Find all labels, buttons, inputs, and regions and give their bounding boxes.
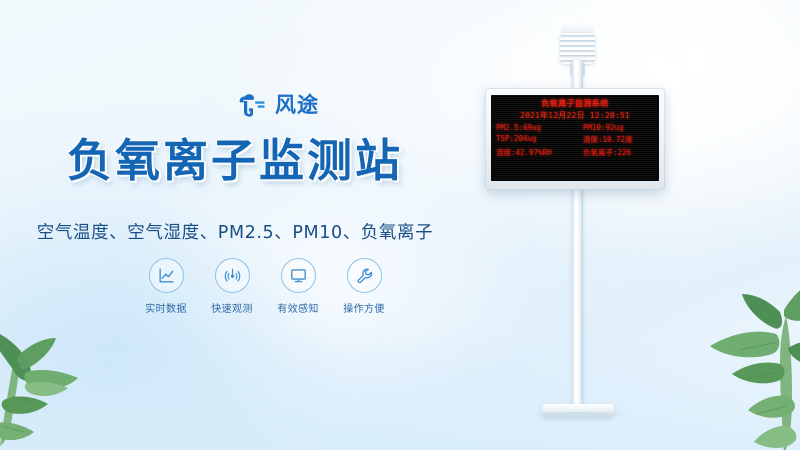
hero-subtitle: 空气温度、空气湿度、PM2.5、PM10、负氧离子 bbox=[0, 219, 470, 244]
feature-label: 操作方便 bbox=[343, 300, 385, 315]
fengtu-wind-cloud-logo-icon bbox=[238, 92, 268, 118]
feature-label: 实时数据 bbox=[145, 300, 187, 315]
radar-signal-icon bbox=[215, 258, 250, 293]
feature-item-fast-observation[interactable]: 快速观测 bbox=[206, 258, 258, 315]
led-reading-negative-oxygen-ion: 负氧离子:226 bbox=[577, 147, 654, 158]
led-title: 负氧离子监测系统 bbox=[491, 98, 659, 109]
wrench-icon bbox=[347, 258, 382, 293]
led-reading-pm10: PM10:92ug bbox=[577, 123, 654, 132]
promo-banner: 风途 负氧离子监测站 空气温度、空气湿度、PM2.5、PM10、负氧离子 实时数… bbox=[0, 0, 800, 450]
led-readings-grid: PM2.5:69ug PM10:92ug TSP:204ug 温度:10.72度… bbox=[491, 123, 659, 158]
monitor-icon bbox=[281, 258, 316, 293]
feature-item-easy-operation[interactable]: 操作方便 bbox=[338, 258, 390, 315]
led-screen: 负氧离子监测系统 2021年12月22日 12:20:51 PM2.5:69ug… bbox=[491, 95, 659, 181]
monitoring-station: 负氧离子监测系统 2021年12月22日 12:20:51 PM2.5:69ug… bbox=[430, 0, 800, 450]
feature-item-realtime-data[interactable]: 实时数据 bbox=[140, 258, 192, 315]
led-reading-pm25: PM2.5:69ug bbox=[496, 123, 573, 132]
page-title: 负氧离子监测站 bbox=[0, 134, 470, 188]
brand-name: 风途 bbox=[275, 95, 319, 116]
led-datetime: 2021年12月22日 12:20:51 bbox=[491, 110, 659, 121]
led-reading-tsp: TSP:204ug bbox=[496, 134, 573, 145]
feature-label: 快速观测 bbox=[211, 300, 253, 315]
led-reading-temperature: 温度:10.72度 bbox=[577, 134, 654, 145]
led-reading-humidity: 湿度:42.97%RH bbox=[496, 147, 573, 158]
feature-list: 实时数据 快速观测 bbox=[140, 258, 390, 315]
feature-item-effective-sensing[interactable]: 有效感知 bbox=[272, 258, 324, 315]
feature-label: 有效感知 bbox=[277, 300, 319, 315]
brand-logo: 风途 bbox=[238, 92, 319, 118]
line-chart-icon bbox=[149, 258, 184, 293]
led-display-board: 负氧离子监测系统 2021年12月22日 12:20:51 PM2.5:69ug… bbox=[485, 88, 665, 190]
hero-text-block: 风途 负氧离子监测站 空气温度、空气湿度、PM2.5、PM10、负氧离子 实时数… bbox=[0, 0, 470, 450]
pole-base-plate-icon bbox=[542, 404, 614, 417]
